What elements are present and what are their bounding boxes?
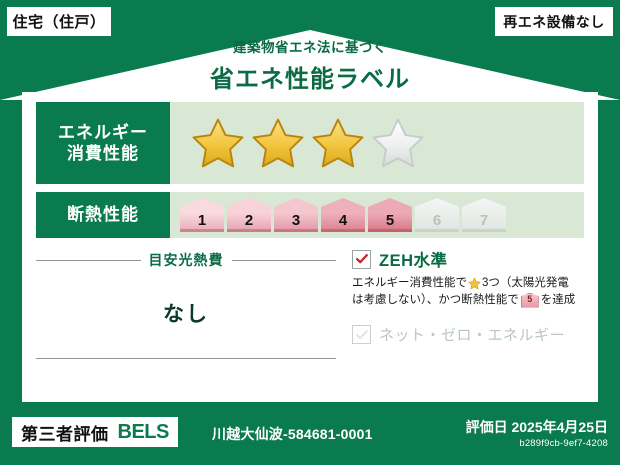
insulation-level-chips: 1234567	[180, 198, 506, 232]
net-zero-energy-row: ネット・ゼロ・エネルギー	[352, 324, 588, 345]
energy-performance-label: エネルギー 消費性能	[36, 102, 170, 184]
label-body-panel: エネルギー 消費性能 断熱性能 1234567 目安光熱費 なし	[22, 92, 598, 402]
energy-label-line2: 消費性能	[67, 143, 139, 164]
utility-cost-header: 目安光熱費	[36, 250, 336, 270]
insulation-label-line1: 断熱性能	[67, 204, 139, 225]
bels-logo-box: 第三者評価 BELS	[12, 417, 178, 447]
utility-cost-block: 目安光熱費 なし	[36, 250, 336, 359]
inline-level-chip: 5	[521, 293, 539, 308]
star-filled-icon	[192, 117, 244, 169]
energy-performance-value	[170, 102, 584, 184]
zeh-desc-part1: エネルギー消費性能で	[352, 275, 467, 292]
label-footer: 第三者評価 BELS 川越大仙波-584681-0001 評価日 2025年4月…	[0, 407, 620, 465]
utility-cost-title: 目安光熱費	[149, 250, 224, 270]
divider-left	[36, 260, 141, 261]
zeh-standard-row: ZEH水準	[352, 247, 588, 271]
insulation-performance-value: 1234567	[170, 192, 584, 238]
third-party-label: 第三者評価	[21, 420, 109, 445]
insulation-chip-5: 5	[368, 198, 412, 232]
label-uuid: b289f9cb-9ef7-4208	[519, 438, 608, 449]
inline-star-icon	[468, 277, 481, 290]
check-icon	[355, 252, 369, 266]
zeh-description: エネルギー消費性能で 3つ（太陽光発電 は考慮しない）、かつ断熱性能で 5 を達…	[352, 275, 588, 308]
evaluation-date-value: 2025年4月25日	[511, 419, 608, 435]
zeh-desc-stars: 3つ（太陽光発電	[482, 275, 569, 292]
insulation-chip-7: 7	[462, 198, 506, 232]
renewable-equipment-badge: 再エネ設備なし	[494, 6, 614, 37]
zeh-block: ZEH水準 エネルギー消費性能で 3つ（太陽光発電 は考慮しない）、かつ断熱性能…	[352, 247, 588, 345]
evaluation-date: 評価日 2025年4月25日	[466, 417, 608, 437]
insulation-performance-label: 断熱性能	[36, 192, 170, 238]
insulation-chip-1: 1	[180, 198, 224, 232]
utility-cost-value: なし	[36, 298, 336, 328]
label-title: 省エネ性能ラベル	[0, 59, 620, 94]
divider-right	[232, 260, 337, 261]
insulation-chip-4: 4	[321, 198, 365, 232]
certificate-id: 川越大仙波-584681-0001	[212, 424, 373, 444]
energy-label-line1: エネルギー	[58, 122, 148, 143]
zeh-desc-part3: を達成	[541, 292, 576, 309]
zeh-checkbox[interactable]	[352, 250, 371, 269]
insulation-chip-2: 2	[227, 198, 271, 232]
star-filled-icon	[312, 117, 364, 169]
net-zero-energy-checkbox[interactable]	[352, 325, 371, 344]
energy-label-card: 住宅（住戸） 再エネ設備なし 建築物省エネ法に基づく 省エネ性能ラベル エネルギ…	[0, 0, 620, 465]
insulation-performance-row: 断熱性能 1234567	[36, 192, 584, 238]
star-empty-icon	[372, 117, 424, 169]
check-icon-faint	[355, 328, 369, 342]
evaluation-date-label: 評価日	[466, 419, 508, 435]
net-zero-energy-title: ネット・ゼロ・エネルギー	[379, 324, 565, 345]
energy-performance-row: エネルギー 消費性能	[36, 102, 584, 184]
insulation-chip-6: 6	[415, 198, 459, 232]
label-subtitle: 建築物省エネ法に基づく	[0, 36, 620, 56]
insulation-chip-3: 3	[274, 198, 318, 232]
building-type-badge: 住宅（住戸）	[6, 6, 112, 37]
star-rating	[192, 117, 424, 169]
zeh-desc-part2: は考慮しない）、かつ断熱性能で	[352, 292, 519, 309]
label-header: 建築物省エネ法に基づく 省エネ性能ラベル	[0, 36, 620, 94]
bels-label: BELS	[118, 421, 169, 444]
star-filled-icon	[252, 117, 304, 169]
zeh-title: ZEH水準	[379, 247, 448, 271]
utility-cost-bottom-divider	[36, 358, 336, 359]
